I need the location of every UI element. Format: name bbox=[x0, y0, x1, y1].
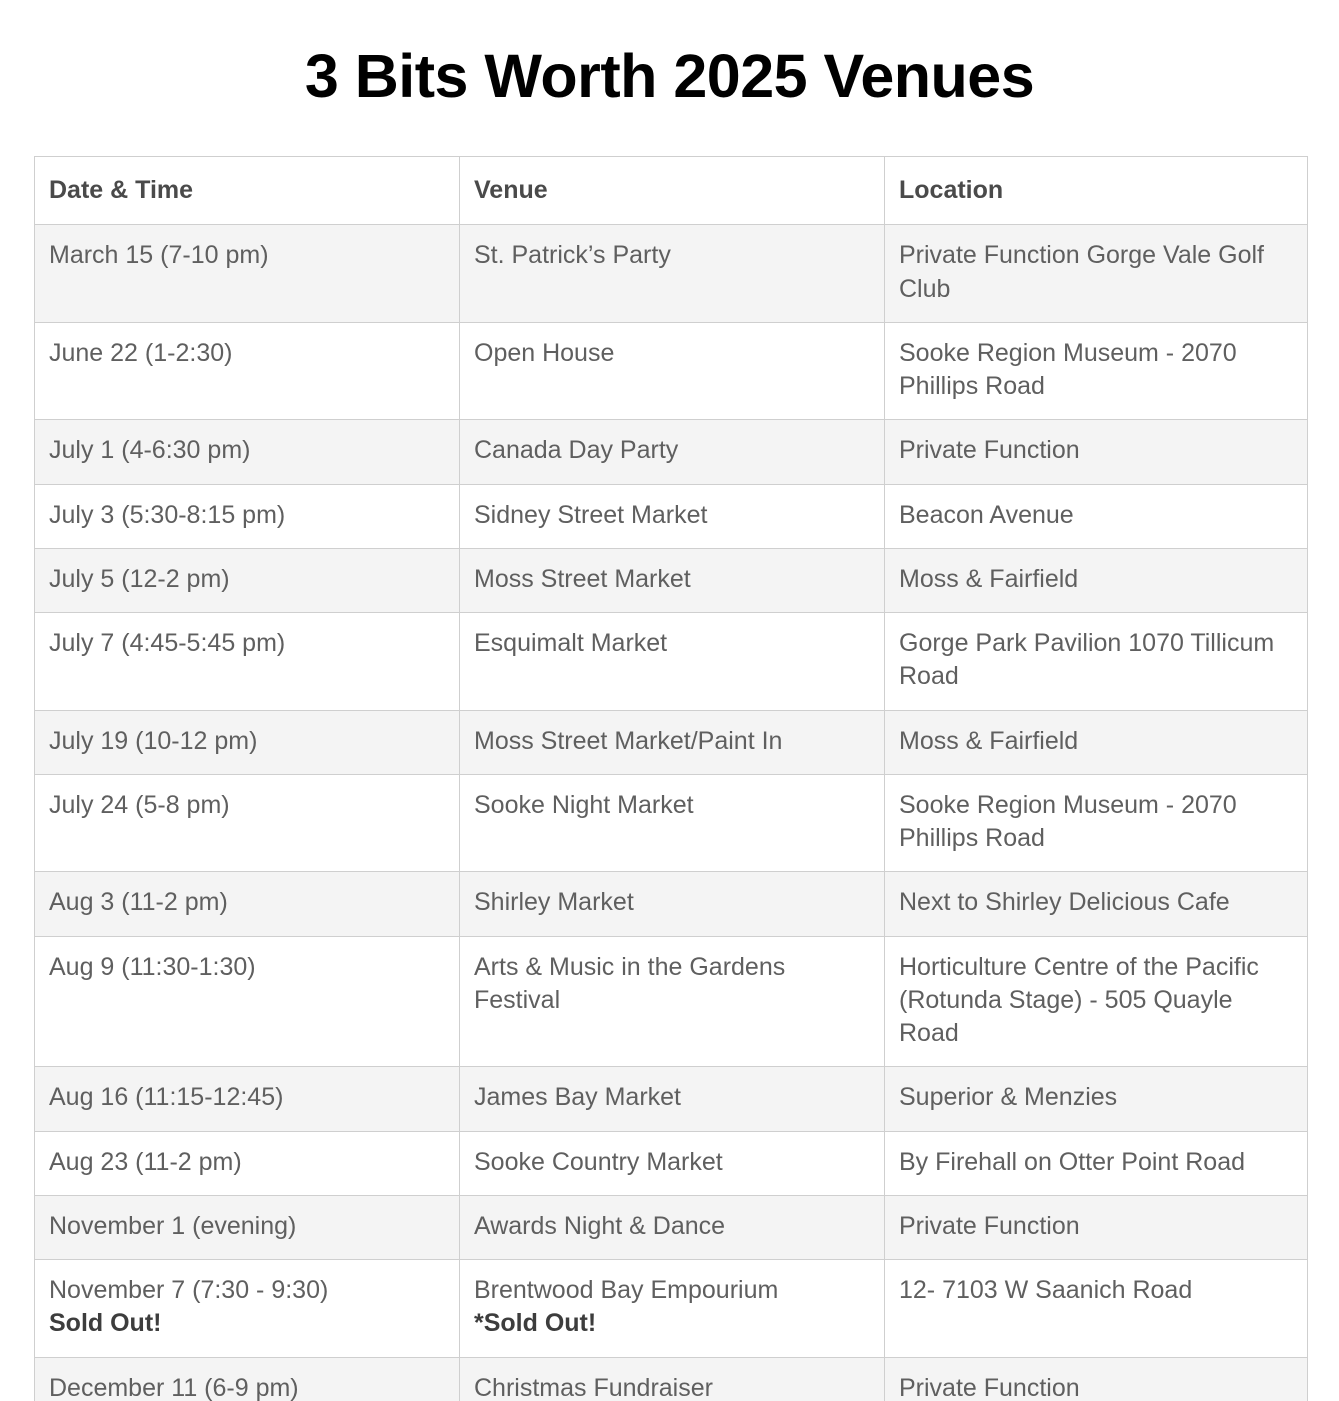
cell-location: Next to Shirley Delicious Cafe bbox=[885, 872, 1308, 936]
cell-venue: Esquimalt Market bbox=[460, 613, 885, 711]
cell-location-text: Moss & Fairfield bbox=[899, 563, 1293, 596]
cell-date-time: November 7 (7:30 - 9:30)Sold Out! bbox=[35, 1260, 460, 1358]
cell-venue: Sooke Night Market bbox=[460, 774, 885, 872]
cell-venue-text: Moss Street Market bbox=[474, 563, 870, 596]
venues-page: 3 Bits Worth 2025 Venues Date & Time Ven… bbox=[0, 0, 1339, 1401]
venues-table: Date & Time Venue Location March 15 (7-1… bbox=[34, 156, 1308, 1401]
cell-date-time-text: December 11 (6-9 pm) bbox=[49, 1372, 445, 1401]
cell-location: Gorge Park Pavilion 1070 Tillicum Road bbox=[885, 613, 1308, 711]
table-row: Aug 3 (11-2 pm)Shirley MarketNext to Shi… bbox=[35, 872, 1308, 936]
page-title: 3 Bits Worth 2025 Venues bbox=[0, 0, 1339, 108]
table-header-row: Date & Time Venue Location bbox=[35, 157, 1308, 225]
cell-venue-text: Christmas Fundraiser bbox=[474, 1372, 870, 1401]
cell-venue: Sooke Country Market bbox=[460, 1131, 885, 1195]
venues-table-container: Date & Time Venue Location March 15 (7-1… bbox=[34, 156, 1307, 1401]
cell-location-text: Moss & Fairfield bbox=[899, 725, 1293, 758]
cell-date-time-text: Aug 9 (11:30-1:30) bbox=[49, 951, 445, 984]
table-row: July 3 (5:30-8:15 pm)Sidney Street Marke… bbox=[35, 484, 1308, 548]
cell-venue-text: Sooke Night Market bbox=[474, 789, 870, 822]
cell-location-text: Private Function bbox=[899, 434, 1293, 467]
cell-venue-text: Open House bbox=[474, 337, 870, 370]
table-row: July 19 (10-12 pm)Moss Street Market/Pai… bbox=[35, 710, 1308, 774]
cell-venue: James Bay Market bbox=[460, 1067, 885, 1131]
table-row: July 7 (4:45-5:45 pm)Esquimalt MarketGor… bbox=[35, 613, 1308, 711]
cell-location-text: Sooke Region Museum - 2070 Phillips Road bbox=[899, 789, 1293, 856]
cell-venue: Awards Night & Dance bbox=[460, 1195, 885, 1259]
table-row: Aug 23 (11-2 pm)Sooke Country MarketBy F… bbox=[35, 1131, 1308, 1195]
cell-location-text: By Firehall on Otter Point Road bbox=[899, 1146, 1293, 1179]
cell-date-time-text: March 15 (7-10 pm) bbox=[49, 239, 445, 272]
cell-location: Private Function bbox=[885, 1195, 1308, 1259]
cell-location: Moss & Fairfield bbox=[885, 548, 1308, 612]
cell-venue-text: Sidney Street Market bbox=[474, 499, 870, 532]
cell-venue: St. Patrick’s Party bbox=[460, 225, 885, 323]
cell-date-time: July 24 (5-8 pm) bbox=[35, 774, 460, 872]
cell-date-time: November 1 (evening) bbox=[35, 1195, 460, 1259]
cell-date-time-text: November 7 (7:30 - 9:30) bbox=[49, 1274, 445, 1307]
table-row: November 7 (7:30 - 9:30)Sold Out!Brentwo… bbox=[35, 1260, 1308, 1358]
cell-location-text: Private Function Gorge Vale Golf Club bbox=[899, 239, 1293, 306]
cell-venue: Open House bbox=[460, 322, 885, 420]
cell-date-time-text: July 7 (4:45-5:45 pm) bbox=[49, 627, 445, 660]
cell-date-time-text: November 1 (evening) bbox=[49, 1210, 445, 1243]
cell-venue: Moss Street Market/Paint In bbox=[460, 710, 885, 774]
column-header-location: Location bbox=[885, 157, 1308, 225]
cell-venue-text: Moss Street Market/Paint In bbox=[474, 725, 870, 758]
cell-date-time-text: June 22 (1-2:30) bbox=[49, 337, 445, 370]
cell-venue-text: Shirley Market bbox=[474, 886, 870, 919]
cell-date-time-text: Aug 3 (11-2 pm) bbox=[49, 886, 445, 919]
cell-location-text: Sooke Region Museum - 2070 Phillips Road bbox=[899, 337, 1293, 404]
cell-venue-text: St. Patrick’s Party bbox=[474, 239, 870, 272]
table-row: July 5 (12-2 pm)Moss Street MarketMoss &… bbox=[35, 548, 1308, 612]
cell-date-time: Aug 23 (11-2 pm) bbox=[35, 1131, 460, 1195]
cell-location-text: Next to Shirley Delicious Cafe bbox=[899, 886, 1293, 919]
cell-location: Private Function bbox=[885, 420, 1308, 484]
cell-location-text: 12- 7103 W Saanich Road bbox=[899, 1274, 1293, 1307]
cell-venue: Shirley Market bbox=[460, 872, 885, 936]
cell-venue-text: James Bay Market bbox=[474, 1081, 870, 1114]
table-row: November 1 (evening)Awards Night & Dance… bbox=[35, 1195, 1308, 1259]
table-row: July 1 (4-6:30 pm)Canada Day PartyPrivat… bbox=[35, 420, 1308, 484]
cell-venue-text: Awards Night & Dance bbox=[474, 1210, 870, 1243]
cell-venue: Christmas Fundraiser bbox=[460, 1357, 885, 1401]
table-row: Aug 16 (11:15-12:45)James Bay MarketSupe… bbox=[35, 1067, 1308, 1131]
cell-date-time: June 22 (1-2:30) bbox=[35, 322, 460, 420]
cell-location: Superior & Menzies bbox=[885, 1067, 1308, 1131]
cell-date-time-note: Sold Out! bbox=[49, 1307, 445, 1340]
cell-location-text: Private Function bbox=[899, 1210, 1293, 1243]
table-header: Date & Time Venue Location bbox=[35, 157, 1308, 225]
cell-location: Private Function Gorge Vale Golf Club bbox=[885, 225, 1308, 323]
cell-location: Sooke Region Museum - 2070 Phillips Road bbox=[885, 774, 1308, 872]
cell-location-text: Horticulture Centre of the Pacific (Rotu… bbox=[899, 951, 1293, 1051]
cell-venue: Canada Day Party bbox=[460, 420, 885, 484]
cell-date-time-text: Aug 16 (11:15-12:45) bbox=[49, 1081, 445, 1114]
cell-location: Moss & Fairfield bbox=[885, 710, 1308, 774]
cell-venue-text: Canada Day Party bbox=[474, 434, 870, 467]
cell-date-time: December 11 (6-9 pm) bbox=[35, 1357, 460, 1401]
cell-venue-text: Brentwood Bay Empourium bbox=[474, 1274, 870, 1307]
table-row: June 22 (1-2:30)Open HouseSooke Region M… bbox=[35, 322, 1308, 420]
cell-date-time: March 15 (7-10 pm) bbox=[35, 225, 460, 323]
cell-venue: Arts & Music in the Gardens Festival bbox=[460, 936, 885, 1067]
cell-location: Beacon Avenue bbox=[885, 484, 1308, 548]
cell-date-time-text: July 3 (5:30-8:15 pm) bbox=[49, 499, 445, 532]
cell-venue-text: Arts & Music in the Gardens Festival bbox=[474, 951, 870, 1018]
table-body: March 15 (7-10 pm)St. Patrick’s PartyPri… bbox=[35, 225, 1308, 1401]
table-row: July 24 (5-8 pm)Sooke Night MarketSooke … bbox=[35, 774, 1308, 872]
table-row: March 15 (7-10 pm)St. Patrick’s PartyPri… bbox=[35, 225, 1308, 323]
cell-location: Horticulture Centre of the Pacific (Rotu… bbox=[885, 936, 1308, 1067]
cell-location-text: Superior & Menzies bbox=[899, 1081, 1293, 1114]
cell-location-text: Private Function bbox=[899, 1372, 1293, 1401]
cell-venue-text: Esquimalt Market bbox=[474, 627, 870, 660]
cell-date-time-text: July 19 (10-12 pm) bbox=[49, 725, 445, 758]
column-header-date-time: Date & Time bbox=[35, 157, 460, 225]
cell-date-time: July 1 (4-6:30 pm) bbox=[35, 420, 460, 484]
table-row: Aug 9 (11:30-1:30)Arts & Music in the Ga… bbox=[35, 936, 1308, 1067]
cell-venue: Moss Street Market bbox=[460, 548, 885, 612]
cell-location: Sooke Region Museum - 2070 Phillips Road bbox=[885, 322, 1308, 420]
cell-date-time-text: July 5 (12-2 pm) bbox=[49, 563, 445, 596]
cell-date-time: July 19 (10-12 pm) bbox=[35, 710, 460, 774]
cell-venue-text: Sooke Country Market bbox=[474, 1146, 870, 1179]
cell-location: Private Function bbox=[885, 1357, 1308, 1401]
cell-date-time-text: Aug 23 (11-2 pm) bbox=[49, 1146, 445, 1179]
cell-venue: Sidney Street Market bbox=[460, 484, 885, 548]
cell-date-time: July 5 (12-2 pm) bbox=[35, 548, 460, 612]
cell-date-time: July 7 (4:45-5:45 pm) bbox=[35, 613, 460, 711]
cell-date-time: Aug 16 (11:15-12:45) bbox=[35, 1067, 460, 1131]
cell-location: 12- 7103 W Saanich Road bbox=[885, 1260, 1308, 1358]
cell-date-time: Aug 3 (11-2 pm) bbox=[35, 872, 460, 936]
cell-location-text: Beacon Avenue bbox=[899, 499, 1293, 532]
cell-location: By Firehall on Otter Point Road bbox=[885, 1131, 1308, 1195]
column-header-venue: Venue bbox=[460, 157, 885, 225]
cell-date-time: Aug 9 (11:30-1:30) bbox=[35, 936, 460, 1067]
cell-venue-note: *Sold Out! bbox=[474, 1307, 870, 1340]
cell-venue: Brentwood Bay Empourium*Sold Out! bbox=[460, 1260, 885, 1358]
cell-date-time: July 3 (5:30-8:15 pm) bbox=[35, 484, 460, 548]
cell-date-time-text: July 1 (4-6:30 pm) bbox=[49, 434, 445, 467]
cell-location-text: Gorge Park Pavilion 1070 Tillicum Road bbox=[899, 627, 1293, 694]
cell-date-time-text: July 24 (5-8 pm) bbox=[49, 789, 445, 822]
table-row: December 11 (6-9 pm)Christmas Fundraiser… bbox=[35, 1357, 1308, 1401]
